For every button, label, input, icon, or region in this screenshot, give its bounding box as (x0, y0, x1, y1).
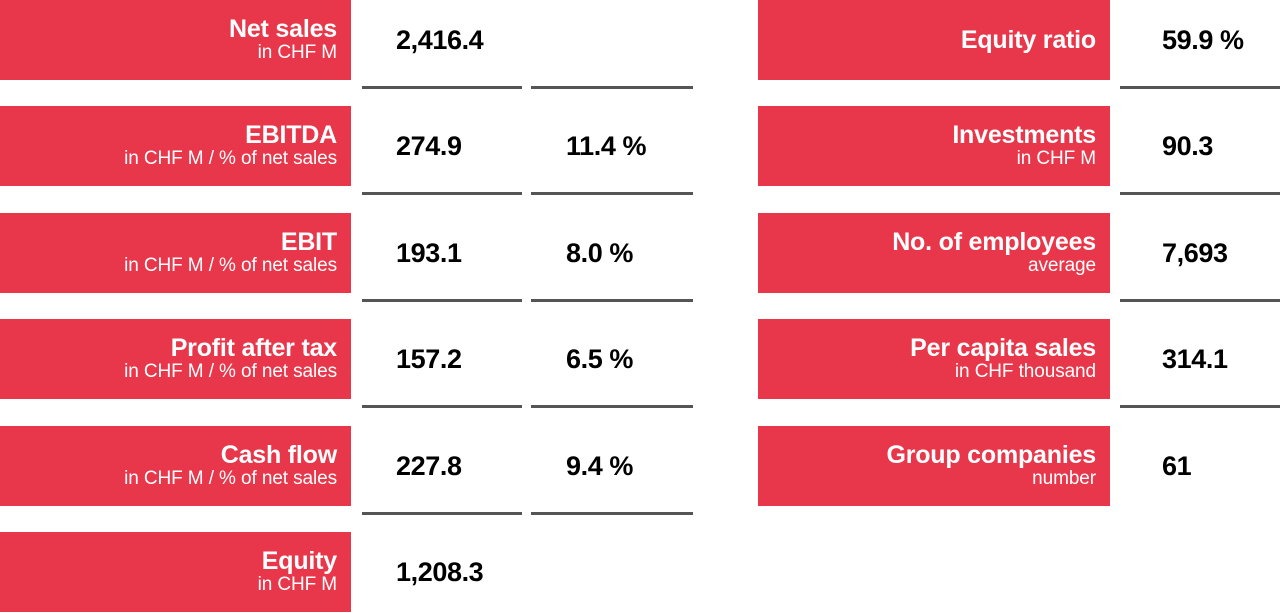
kpi-label-plate: No. of employees average (758, 213, 1110, 293)
kpi-rule-primary (1120, 405, 1280, 408)
key-figures-sheet: Net sales in CHF M 2,416.4 EBITDA in CHF… (0, 0, 1280, 613)
kpi-subtitle: average (1028, 255, 1096, 276)
kpi-rule-primary (1120, 192, 1280, 195)
kpi-title: EBIT (281, 229, 337, 255)
kpi-value-primary: 1,208.3 (396, 532, 521, 612)
kpi-subtitle: in CHF M (1017, 148, 1096, 169)
kpi-subtitle: in CHF M / % of net sales (124, 361, 337, 382)
kpi-title: Equity ratio (961, 27, 1096, 53)
kpi-value-secondary: 9.4 % (566, 426, 693, 506)
kpi-row: Equity ratio 59.9 % (758, 0, 1280, 80)
kpi-row: Profit after tax in CHF M / % of net sal… (0, 319, 694, 399)
kpi-rule-primary (362, 405, 522, 408)
kpi-row: Investments in CHF M 90.3 (758, 106, 1280, 186)
kpi-value-primary: 2,416.4 (396, 0, 521, 80)
kpi-value-primary: 227.8 (396, 426, 521, 506)
kpi-subtitle: in CHF M (258, 574, 337, 595)
kpi-row: Cash flow in CHF M / % of net sales 227.… (0, 426, 694, 506)
kpi-row: Net sales in CHF M 2,416.4 (0, 0, 694, 80)
kpi-title: Equity (262, 548, 337, 574)
kpi-value-secondary: 6.5 % (566, 319, 693, 399)
kpi-subtitle: in CHF M (258, 42, 337, 63)
kpi-subtitle: in CHF M / % of net sales (124, 255, 337, 276)
kpi-rule-primary (1120, 86, 1280, 89)
kpi-subtitle: in CHF M / % of net sales (124, 148, 337, 169)
kpi-title: Cash flow (221, 442, 337, 468)
kpi-subtitle: in CHF M / % of net sales (124, 468, 337, 489)
kpi-rule-primary (362, 192, 522, 195)
kpi-title: Per capita sales (910, 335, 1096, 361)
kpi-rule-secondary (531, 405, 693, 408)
kpi-value-primary: 7,693 (1162, 213, 1280, 293)
kpi-rule-secondary (531, 299, 693, 302)
kpi-row: EBITDA in CHF M / % of net sales 274.9 1… (0, 106, 694, 186)
kpi-value-primary: 274.9 (396, 106, 521, 186)
kpi-rule-primary (1120, 299, 1280, 302)
kpi-subtitle: in CHF thousand (955, 361, 1096, 382)
kpi-title: Profit after tax (171, 335, 337, 361)
kpi-label-plate: Cash flow in CHF M / % of net sales (0, 426, 351, 506)
kpi-rule-secondary (531, 512, 693, 515)
kpi-value-primary: 59.9 % (1162, 0, 1280, 80)
kpi-value-primary: 193.1 (396, 213, 521, 293)
kpi-subtitle: number (1032, 468, 1096, 489)
kpi-label-plate: Per capita sales in CHF thousand (758, 319, 1110, 399)
key-figures-right-column: Equity ratio 59.9 % Investments in CHF M… (758, 0, 1280, 613)
kpi-label-plate: Equity in CHF M (0, 532, 351, 612)
kpi-row: Group companies number 61 (758, 426, 1280, 506)
kpi-value-primary: 90.3 (1162, 106, 1280, 186)
kpi-label-plate: Net sales in CHF M (0, 0, 351, 80)
kpi-value-primary: 314.1 (1162, 319, 1280, 399)
kpi-label-plate: Equity ratio (758, 0, 1110, 80)
kpi-label-plate: EBIT in CHF M / % of net sales (0, 213, 351, 293)
kpi-rule-primary (362, 512, 522, 515)
kpi-row: Per capita sales in CHF thousand 314.1 (758, 319, 1280, 399)
kpi-rule-primary (362, 299, 522, 302)
kpi-rule-primary (362, 86, 522, 89)
key-figures-left-column: Net sales in CHF M 2,416.4 EBITDA in CHF… (0, 0, 694, 613)
kpi-title: Group companies (886, 442, 1096, 468)
kpi-value-secondary: 8.0 % (566, 213, 693, 293)
kpi-label-plate: Profit after tax in CHF M / % of net sal… (0, 319, 351, 399)
kpi-title: Investments (952, 122, 1096, 148)
kpi-row: EBIT in CHF M / % of net sales 193.1 8.0… (0, 213, 694, 293)
kpi-value-primary: 61 (1162, 426, 1280, 506)
kpi-title: No. of employees (892, 229, 1096, 255)
kpi-label-plate: Investments in CHF M (758, 106, 1110, 186)
kpi-label-plate: Group companies number (758, 426, 1110, 506)
kpi-label-plate: EBITDA in CHF M / % of net sales (0, 106, 351, 186)
kpi-rule-secondary (531, 86, 693, 89)
kpi-title: EBITDA (245, 122, 337, 148)
kpi-title: Net sales (229, 16, 337, 42)
kpi-row: Equity in CHF M 1,208.3 (0, 532, 694, 612)
kpi-rule-secondary (531, 192, 693, 195)
kpi-value-secondary: 11.4 % (566, 106, 693, 186)
kpi-row: No. of employees average 7,693 (758, 213, 1280, 293)
kpi-value-primary: 157.2 (396, 319, 521, 399)
